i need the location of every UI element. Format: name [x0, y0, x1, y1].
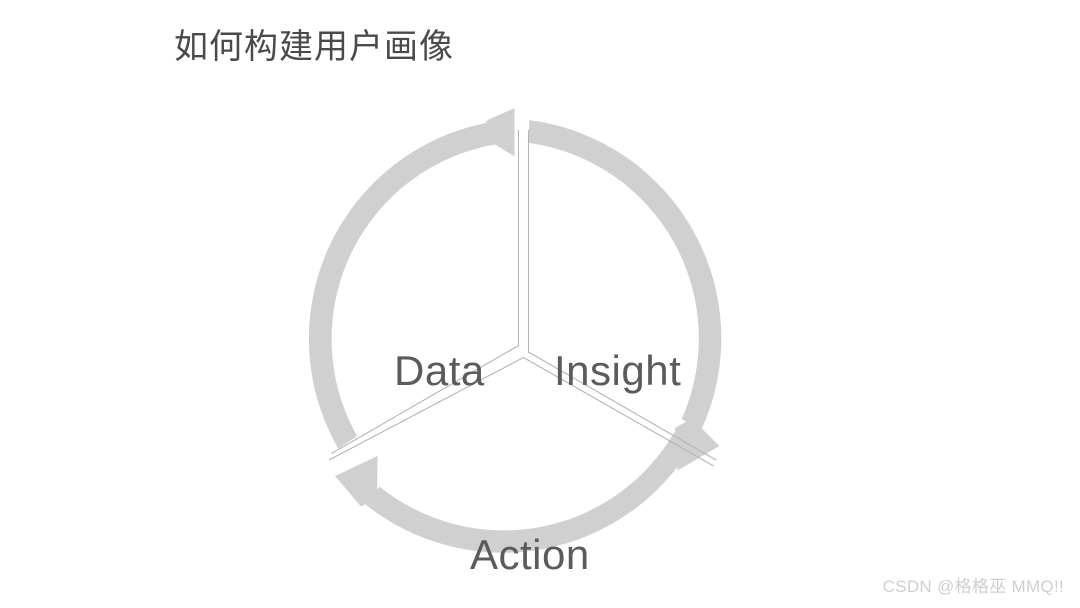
- wedge-label-action: Action: [470, 534, 590, 576]
- watermark-text: CSDN @格格巫 MMQ!!: [883, 576, 1064, 598]
- cycle-ring-group: [309, 108, 721, 553]
- wedge-label-data: Data: [394, 350, 485, 392]
- wedge-label-insight: Insight: [554, 350, 681, 392]
- ring-arc-data-band: [309, 121, 503, 449]
- ring-arc-data: [309, 108, 515, 449]
- cycle-diagram: Data Insight Action: [282, 100, 762, 580]
- arrow-top-icon: [479, 108, 515, 157]
- arrow-lower-left-icon: [335, 456, 378, 507]
- cycle-diagram-svg: [282, 100, 762, 580]
- wedge-data: [332, 130, 519, 454]
- page-title: 如何构建用户画像: [174, 24, 454, 70]
- ring-arc-insight: [528, 120, 721, 470]
